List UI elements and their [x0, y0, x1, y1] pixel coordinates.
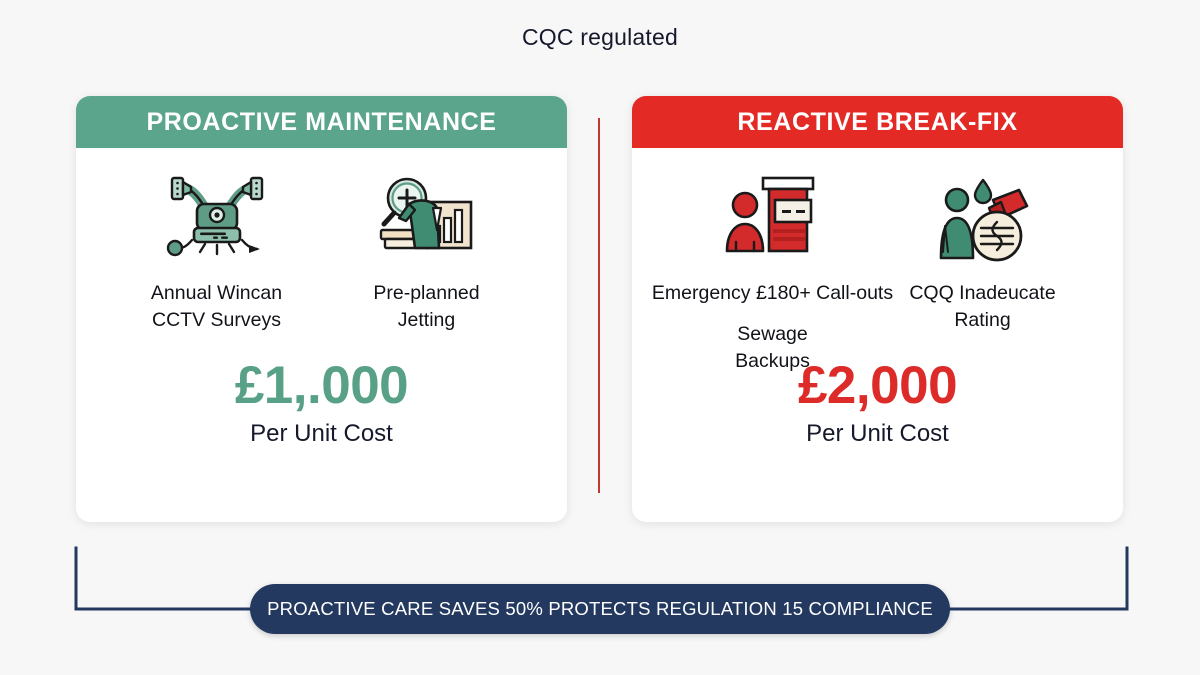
summary-bracket	[0, 0, 1200, 675]
infographic-stage: CQC regulated PROACTIVE MAINTENANCE	[0, 0, 1200, 675]
summary-banner-label: PROACTIVE CARE SAVES 50% PROTECTS REGULA…	[267, 598, 933, 620]
summary-banner: PROACTIVE CARE SAVES 50% PROTECTS REGULA…	[250, 584, 950, 634]
